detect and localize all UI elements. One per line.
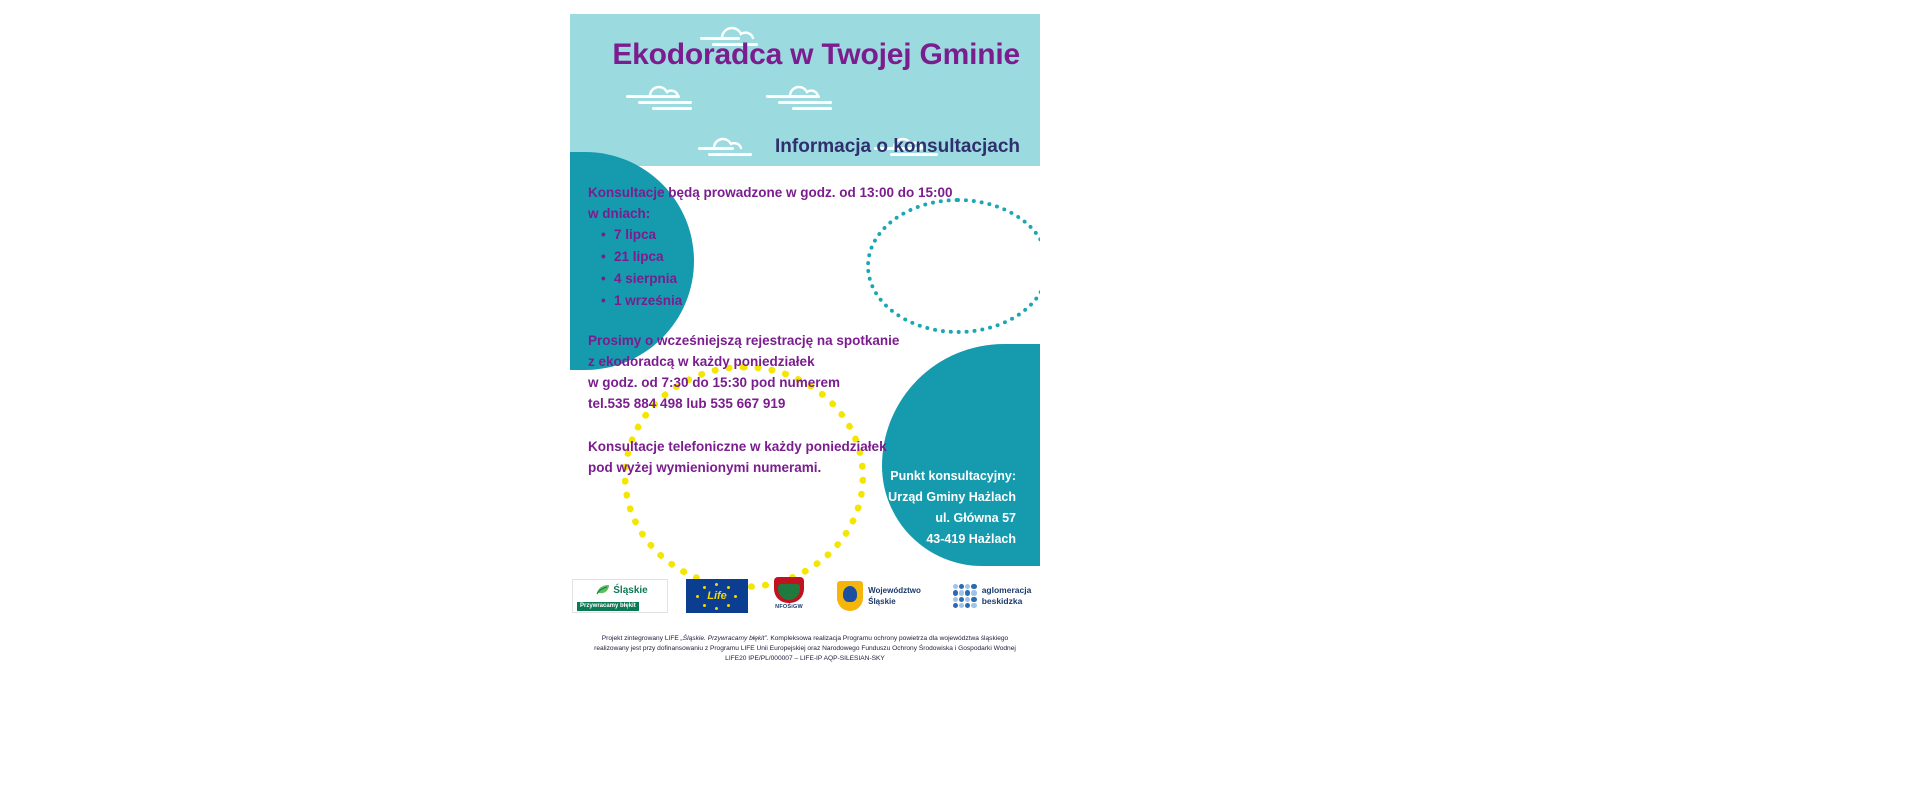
- cloud-icon: [762, 76, 848, 110]
- list-item: 7 lipca: [614, 224, 988, 246]
- screenshot-canvas: Ekodoradca w Twojej Gminie Informacja o …: [0, 0, 1920, 810]
- address-line: Punkt konsultacyjny:: [870, 466, 1016, 487]
- intro-line-1: Konsultacje będą prowadzone w godz. od 1…: [588, 182, 988, 203]
- consultation-dates-list: 7 lipca 21 lipca 4 sierpnia 1 września: [588, 224, 988, 312]
- dot-grid-icon: [953, 584, 977, 608]
- wojewodztwo-logo-text: Województwo Śląskie: [868, 585, 921, 607]
- leaf-icon: [596, 582, 610, 600]
- intro-line-2: w dniach:: [588, 203, 988, 224]
- consultation-point-address: Punkt konsultacyjny: Urząd Gminy Hażlach…: [870, 466, 1028, 550]
- spacer: [588, 312, 988, 330]
- life-logo-title: Life: [707, 590, 727, 602]
- shield-icon: [774, 577, 804, 603]
- footer-line-1-emphasis: „Śląskie. Przywracamy błękit”.: [681, 635, 769, 642]
- poster-header: Ekodoradca w Twojej Gminie Informacja o …: [570, 14, 1040, 166]
- address-line: 43-419 Hażlach: [870, 529, 1016, 550]
- slaskie-logo-title: Śląskie: [613, 586, 647, 596]
- aglomeracja-beskidzka-logo: aglomeracja beskidzka: [946, 579, 1038, 613]
- eagle-crest-icon: [837, 581, 863, 611]
- registration-line-3: w godz. od 7:30 do 15:30 pod numerem: [588, 372, 988, 393]
- registration-phone-line: tel.535 884 498 lub 535 667 919: [588, 393, 988, 414]
- cloud-icon: [622, 76, 708, 110]
- eu-star-icon: [703, 604, 706, 607]
- eu-star-icon: [703, 586, 706, 589]
- footer-line-1-post: Kompleksowa realizacja Programu ochrony …: [769, 635, 1009, 642]
- slaskie-logo-tagline: Przywracamy błękit: [577, 602, 639, 611]
- list-item: 21 lipca: [614, 246, 988, 268]
- eu-star-icon: [715, 607, 718, 610]
- wojewodztwo-logo-line-1: Województwo: [868, 585, 921, 596]
- life-eu-logo: Life: [686, 579, 748, 613]
- eu-star-icon: [734, 595, 737, 598]
- footer-line-2: realizowany jest przy dofinansowaniu z P…: [570, 644, 1040, 654]
- footer-line-1-pre: Projekt zintegrowany LIFE: [602, 635, 681, 642]
- footer-legal-text: Projekt zintegrowany LIFE „Śląskie. Przy…: [570, 634, 1040, 664]
- address-line: ul. Główna 57: [870, 508, 1016, 529]
- aglomeracja-logo-line-1: aglomeracja: [982, 585, 1032, 596]
- slaskie-przywracamy-blekit-logo: Śląskie Przywracamy błękit: [572, 579, 668, 613]
- footer-line-3: LIFE20 IPE/PL/000007 – LIFE-IP AQP-SILES…: [570, 654, 1040, 664]
- wojewodztwo-slaskie-logo: Województwo Śląskie: [830, 578, 928, 614]
- aglomeracja-logo-line-2: beskidzka: [982, 596, 1032, 607]
- page-title: Ekodoradca w Twojej Gminie: [600, 36, 1020, 73]
- address-line: Urząd Gminy Hażlach: [870, 487, 1016, 508]
- logo-strip: Śląskie Przywracamy błękit Life NFOŚiGW: [570, 568, 1040, 624]
- eu-star-icon: [727, 586, 730, 589]
- footer-line-1: Projekt zintegrowany LIFE „Śląskie. Przy…: [570, 634, 1040, 644]
- registration-line-2: z ekodoradcą w każdy poniedziałek: [588, 351, 988, 372]
- eu-star-icon: [696, 595, 699, 598]
- eu-star-icon: [727, 604, 730, 607]
- consultation-details: Konsultacje będą prowadzone w godz. od 1…: [588, 182, 988, 478]
- page-subtitle: Informacja o konsultacjach: [600, 136, 1020, 158]
- phone-consult-line-1: Konsultacje telefoniczne w każdy poniedz…: [588, 436, 988, 457]
- wojewodztwo-logo-line-2: Śląskie: [868, 596, 921, 607]
- list-item: 1 września: [614, 290, 988, 312]
- poster: Ekodoradca w Twojej Gminie Informacja o …: [570, 14, 1040, 672]
- slaskie-logo-top: Śląskie: [596, 582, 647, 600]
- list-item: 4 sierpnia: [614, 268, 988, 290]
- registration-line-1: Prosimy o wcześniejszą rejestrację na sp…: [588, 330, 988, 351]
- aglomeracja-logo-text: aglomeracja beskidzka: [982, 585, 1032, 607]
- nfosigw-logo-title: NFOŚiGW: [775, 604, 803, 610]
- nfosigw-logo: NFOŚiGW: [766, 577, 812, 615]
- eu-star-icon: [715, 583, 718, 586]
